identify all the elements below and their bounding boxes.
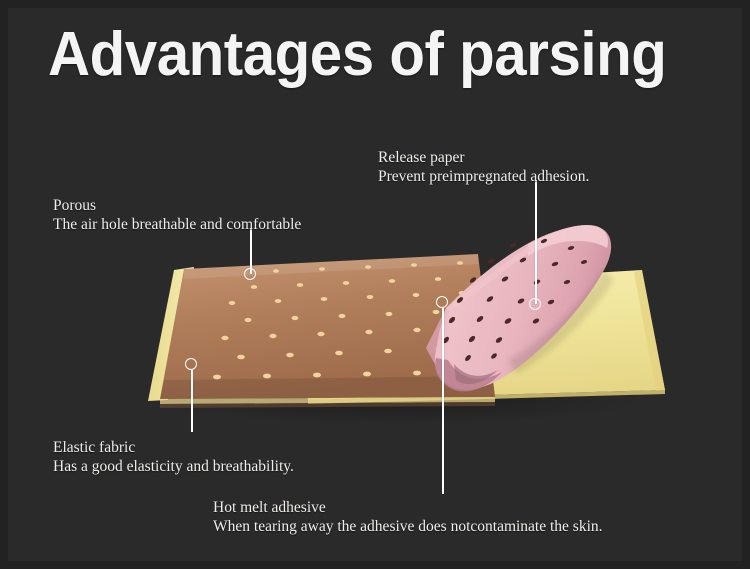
infographic-poster: Advantages of parsing — [0, 0, 750, 569]
callout-elastic-fabric-subtitle: Has a good elasticity and breathability. — [53, 457, 294, 476]
marker-dot-hot-melt-adhesive[interactable] — [436, 296, 448, 308]
callout-hot-melt-adhesive-subtitle: When tearing away the adhesive does notc… — [213, 517, 603, 536]
callout-release-paper-subtitle: Prevent preimpregnated adhesion. — [378, 167, 589, 186]
callout-elastic-fabric-title: Elastic fabric — [53, 438, 294, 457]
leader-line-release-paper — [535, 180, 537, 304]
callout-porous: Porous The air hole breathable and comfo… — [53, 196, 301, 234]
leader-line-hot-melt-adhesive — [442, 308, 444, 494]
callout-hot-melt-adhesive: Hot melt adhesive When tearing away the … — [213, 498, 603, 536]
callout-elastic-fabric: Elastic fabric Has a good elasticity and… — [53, 438, 294, 476]
leader-line-elastic-fabric — [191, 370, 193, 432]
callout-release-paper-title: Release paper — [378, 148, 589, 167]
callout-porous-subtitle: The air hole breathable and comfortable — [53, 215, 301, 234]
callout-hot-melt-adhesive-title: Hot melt adhesive — [213, 498, 603, 517]
marker-dot-release-paper[interactable] — [529, 298, 541, 310]
callout-porous-title: Porous — [53, 196, 301, 215]
product-illustration — [8, 8, 742, 561]
callout-release-paper: Release paper Prevent preimpregnated adh… — [378, 148, 589, 186]
poster-panel: Advantages of parsing — [8, 8, 742, 561]
marker-dot-porous[interactable] — [244, 268, 256, 280]
marker-dot-elastic-fabric[interactable] — [185, 358, 197, 370]
